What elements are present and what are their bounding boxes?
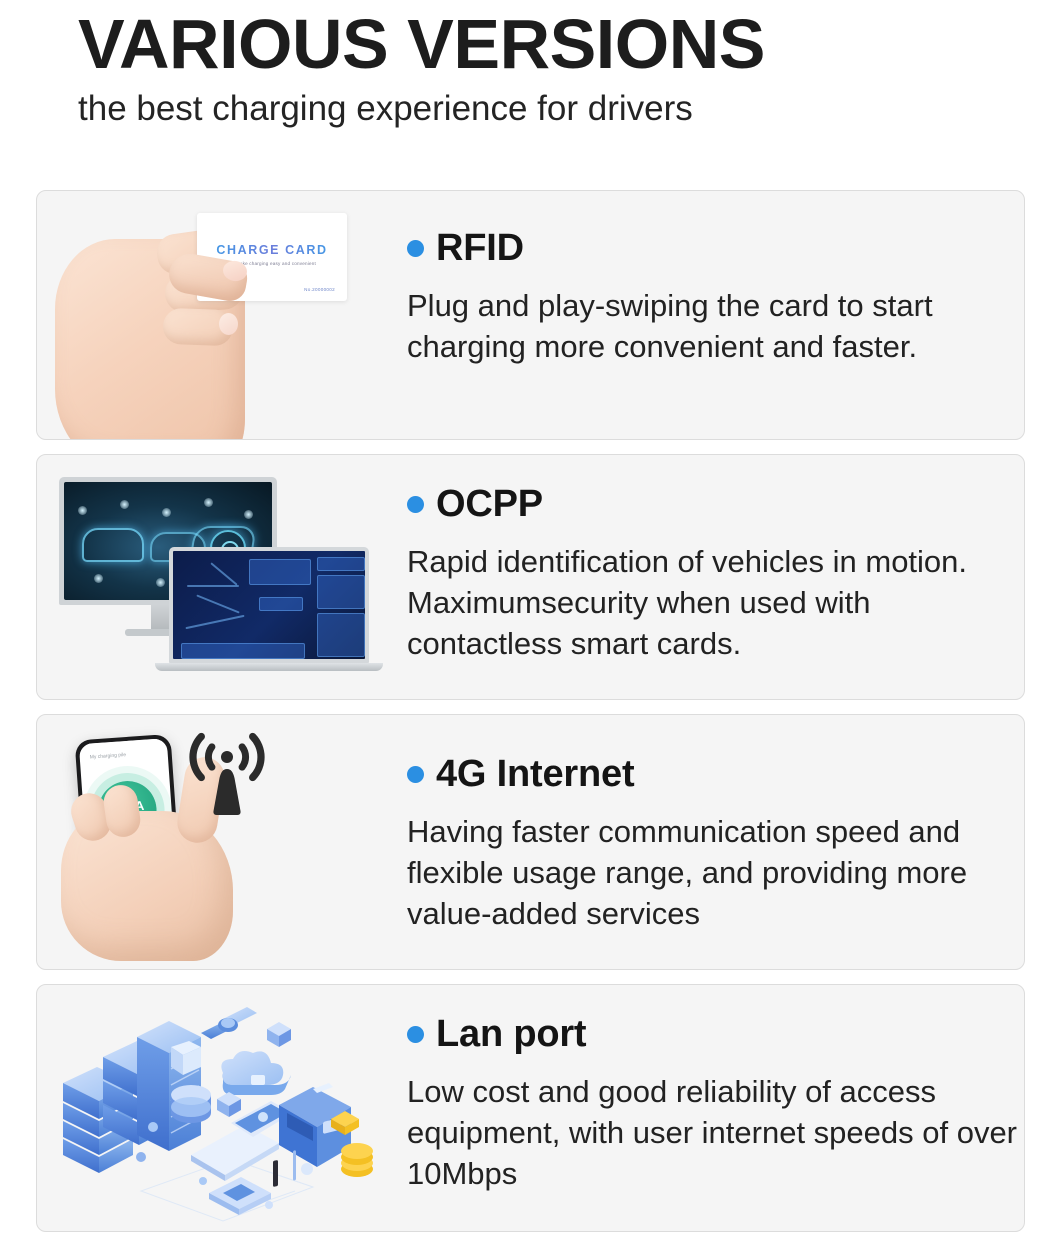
page-root: VARIOUS VERSIONS the best charging exper… <box>0 0 1059 1249</box>
rfid-heading: RFID <box>407 227 1007 270</box>
dashboard-panel <box>317 613 365 657</box>
floating-cube <box>217 1092 241 1117</box>
feature-card-list: CHARGE CARD we make charging easy and co… <box>36 190 1025 1232</box>
rfid-description: Plug and play-swiping the card to start … <box>407 286 1007 368</box>
map-route-line <box>185 615 244 629</box>
page-header: VARIOUS VERSIONS the best charging exper… <box>0 0 1059 130</box>
feature-card-rfid[interactable]: CHARGE CARD we make charging easy and co… <box>36 190 1025 440</box>
glow-dot <box>244 510 253 519</box>
glow-dot <box>94 574 103 583</box>
glow-dot <box>78 506 87 515</box>
fourg-heading-label: 4G Internet <box>436 753 634 796</box>
map-route-line <box>187 585 239 587</box>
glow-dot <box>162 508 171 517</box>
coins-icon <box>341 1143 373 1177</box>
bullet-dot-icon <box>407 496 424 513</box>
ocpp-illustration <box>37 455 407 699</box>
bullet-dot-icon <box>407 766 424 783</box>
feature-card-4g[interactable]: My charging pile 14.7A charging 0.5h 30% <box>36 714 1025 970</box>
fourg-heading: 4G Internet <box>407 753 1017 796</box>
hand-shape <box>61 811 233 961</box>
map-route-line <box>196 594 239 613</box>
car-outline-icon <box>82 528 144 562</box>
macbook-dashboard-content <box>173 551 365 659</box>
charge-card-title: CHARGE CARD <box>197 243 347 257</box>
charge-card-number: No.20000002 <box>304 287 335 292</box>
glow-dot <box>120 500 129 509</box>
dashboard-panel <box>259 597 303 611</box>
lan-text-block: Lan port Low cost and good reliability o… <box>407 985 1017 1195</box>
rfid-illustration: CHARGE CARD we make charging easy and co… <box>37 191 407 439</box>
cloud-icon <box>221 1051 291 1095</box>
page-title: VARIOUS VERSIONS <box>78 8 1059 82</box>
macbook-device <box>169 547 369 671</box>
rfid-heading-label: RFID <box>436 227 524 270</box>
fourg-text-block: 4G Internet Having faster communication … <box>407 715 1017 935</box>
satellite-icon <box>201 1007 257 1039</box>
lan-illustration <box>37 985 407 1231</box>
glow-dot <box>156 578 165 587</box>
ocpp-heading-label: OCPP <box>436 483 543 526</box>
glow-dot <box>204 498 213 507</box>
map-route-line <box>210 562 237 585</box>
macbook-screen <box>169 547 369 663</box>
fourg-description: Having faster communication speed and fl… <box>407 812 1017 935</box>
dot <box>265 1201 273 1209</box>
rfid-text-block: RFID Plug and play-swiping the card to s… <box>407 191 1007 368</box>
feature-card-lan[interactable]: Lan port Low cost and good reliability o… <box>36 984 1025 1232</box>
database-icon <box>171 1085 211 1123</box>
dashboard-panel <box>181 643 305 659</box>
isometric-network-illustration <box>45 991 401 1227</box>
floating-cube <box>267 1022 291 1047</box>
ocpp-text-block: OCPP Rapid identification of vehicles in… <box>407 455 1017 665</box>
page-subtitle: the best charging experience for drivers <box>78 88 1059 130</box>
dot <box>301 1163 313 1175</box>
tablet-icon <box>209 1177 271 1215</box>
macbook-base <box>155 663 383 671</box>
ocpp-heading: OCPP <box>407 483 1017 526</box>
wireless-signal-icon <box>187 725 267 817</box>
bullet-dot-icon <box>407 240 424 257</box>
lan-heading: Lan port <box>407 1013 1017 1056</box>
lan-description: Low cost and good reliability of access … <box>407 1072 1017 1195</box>
bullet-dot-icon <box>407 1026 424 1043</box>
dot <box>199 1177 207 1185</box>
lan-heading-label: Lan port <box>436 1013 586 1056</box>
dashboard-panel <box>317 557 365 571</box>
dashboard-panel <box>317 575 365 609</box>
fourg-illustration: My charging pile 14.7A charging 0.5h 30% <box>37 715 407 969</box>
feature-card-ocpp[interactable]: OCPP Rapid identification of vehicles in… <box>36 454 1025 700</box>
dot <box>148 1122 158 1132</box>
dot <box>136 1152 146 1162</box>
pole-icon <box>273 1150 296 1187</box>
fingernail <box>219 313 238 335</box>
dashboard-panel <box>249 559 311 585</box>
ocpp-description: Rapid identification of vehicles in moti… <box>407 542 1017 665</box>
